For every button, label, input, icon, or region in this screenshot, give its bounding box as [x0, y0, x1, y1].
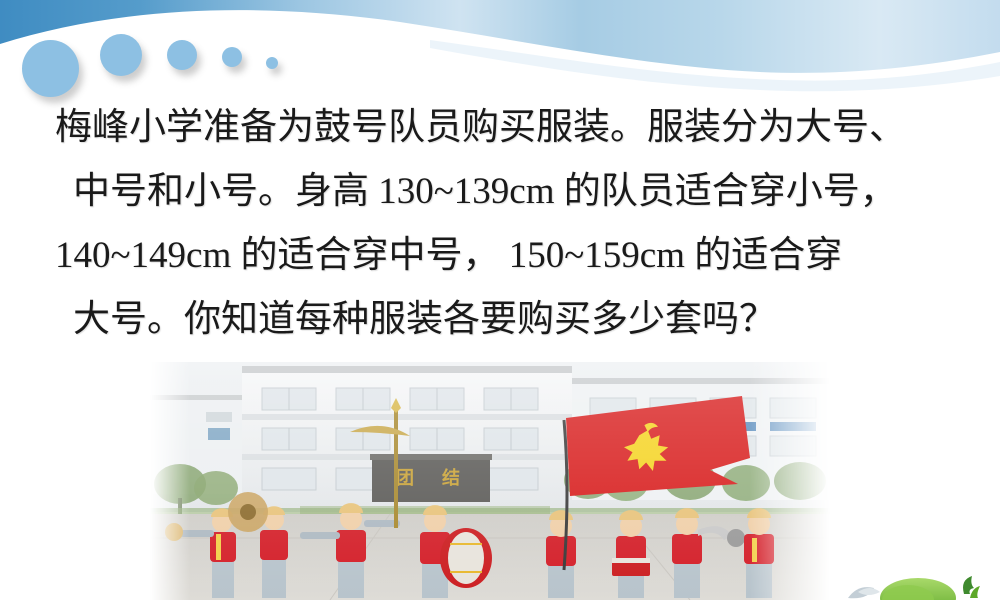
problem-text-line-1: 梅峰小学准备为鼓号队员购买服装。服装分为大号、	[55, 96, 955, 160]
decor-circle-3	[167, 40, 197, 70]
green-leaf-decoration	[830, 554, 1000, 600]
leaf-graphic	[830, 554, 1000, 600]
photo-illustration: 团结	[150, 362, 830, 600]
presentation-slide: 梅峰小学准备为鼓号队员购买服装。服装分为大号、 中号和小号。身高 130~139…	[0, 0, 1000, 600]
decor-circle-5	[266, 57, 278, 69]
problem-text-block: 梅峰小学准备为鼓号队员购买服装。服装分为大号、 中号和小号。身高 130~139…	[55, 96, 955, 352]
problem-text-line-3: 140~149cm 的适合穿中号， 150~159cm 的适合穿	[55, 224, 955, 288]
decor-circle-4	[222, 47, 242, 67]
decor-circle-2	[100, 34, 142, 76]
problem-text-line-4: 大号。你知道每种服装各要购买多少套吗？	[55, 288, 955, 352]
problem-text-line-2: 中号和小号。身高 130~139cm 的队员适合穿小号，	[55, 160, 955, 224]
header-circle-group	[0, 0, 1000, 110]
decor-circle-1	[22, 40, 79, 97]
school-drum-corps-photo: 团结	[150, 362, 830, 600]
